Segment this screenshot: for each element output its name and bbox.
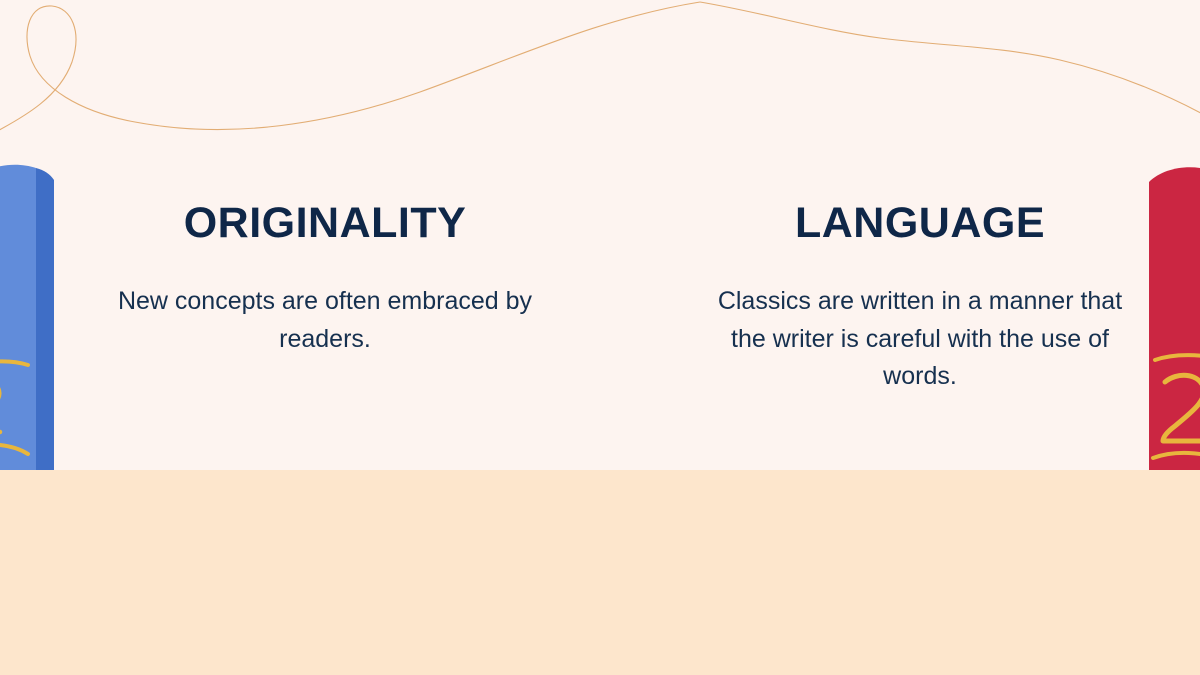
column-originality-heading: ORIGINALITY: [184, 200, 467, 247]
column-language: LANGUAGE Classics are written in a manne…: [640, 200, 1200, 396]
column-originality-body: New concepts are often embraced by reade…: [100, 283, 550, 358]
slide-canvas: ORIGINALITY New concepts are often embra…: [0, 0, 1200, 675]
column-language-heading: LANGUAGE: [795, 200, 1045, 247]
background-band-bottom: [0, 470, 1200, 675]
column-language-body: Classics are written in a manner that th…: [713, 283, 1128, 396]
content-columns: ORIGINALITY New concepts are often embra…: [0, 200, 1200, 396]
column-originality: ORIGINALITY New concepts are often embra…: [45, 200, 605, 396]
